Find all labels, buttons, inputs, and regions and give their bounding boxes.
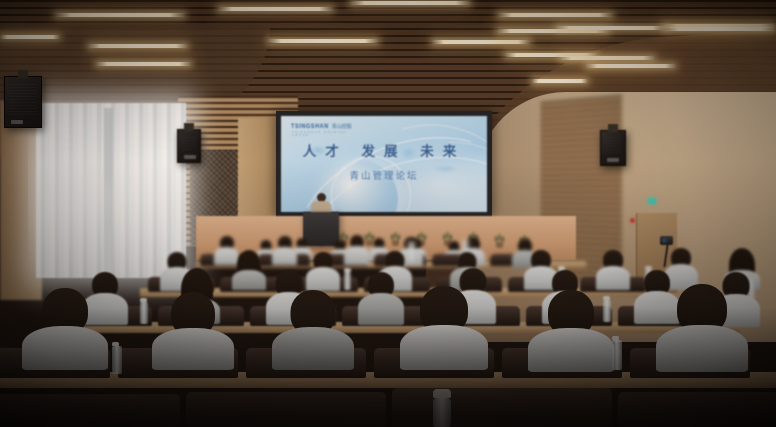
seat-back-foreground [0,394,180,427]
ceiling-light-strip [432,40,530,44]
speaker-mount [184,123,194,131]
wall-speaker-left-mid [177,129,201,163]
audience-member [596,250,630,290]
bottle-cap [140,298,147,302]
audience-member-foreground [22,288,108,366]
logo-text-cn: 青山控股 [332,123,352,130]
ceiling-light-strip [560,56,655,60]
person-shoulders [656,325,748,372]
person-shoulders [344,246,370,265]
person-shoulders [232,270,266,290]
water-bottle [612,340,622,370]
ceiling-light-strip [55,13,185,17]
audience-member [358,272,404,324]
ceiling-light-strip [350,1,470,5]
bottle-cap [462,240,469,244]
audience-member-foreground [656,284,748,370]
tsingshan-logo: TSINGSHAN 青山控股 TSINGSHAN HOLDING GROUP [291,123,352,130]
person-shoulders [152,328,234,370]
audience-member-foreground [152,292,234,368]
person-shoulders [272,327,354,370]
audience-member-foreground [272,290,354,368]
audience-member [272,236,297,264]
curtain-gap [104,108,113,273]
person-shoulders [528,328,614,372]
speaker-badge [607,158,619,162]
wall-speaker-left-front [4,76,42,128]
bottle-cap [433,389,451,398]
slide-headline: 人才 发展 未来 [281,140,487,160]
ceiling-light-strip [0,35,60,39]
seat-back-foreground [618,392,776,427]
ceiling-light-strip [586,64,676,68]
plant-pot [496,242,503,248]
camera-lens-icon [662,238,667,243]
audience-member-foreground [400,286,488,368]
conference-hall-photo: TSINGSHAN 青山控股 TSINGSHAN HOLDING GROUP 人… [0,0,776,427]
bottle-cap [344,268,351,272]
speaker-grill [9,82,37,115]
speaker-mount [18,70,28,78]
audience-member [344,235,370,264]
audience-member-foreground [528,290,614,368]
exit-indicator-icon [648,198,656,204]
bottle-cap [112,342,119,346]
seat-back-foreground [186,392,386,427]
person-shoulders [358,293,404,325]
water-bottle-foreground [433,398,451,427]
speaker-grill [605,136,621,153]
potted-plant [494,233,505,248]
ceiling-light-strip [218,7,333,11]
ceiling-light-strip [498,13,613,17]
handheld-camera [660,236,673,245]
slide-subtitle: 青山管理论坛 [281,168,487,182]
person-shoulders [22,326,108,370]
ceiling-light-strip [556,26,666,30]
ceiling-light-strip [268,39,378,43]
water-bottle [140,302,148,324]
ceiling-light-strip [96,62,191,66]
ceiling-light-strip [88,44,188,48]
fire-alarm-icon [630,218,635,223]
bottle-cap [612,336,619,340]
person-shoulders [400,325,488,370]
speaker-badge [11,120,23,124]
logo-subtext: TSINGSHAN HOLDING GROUP [292,131,352,137]
speaker-badge [184,155,196,159]
water-bottle [112,346,122,374]
ceiling-light-strip [532,79,588,83]
person-shoulders [272,247,297,265]
ceiling-light-strip [665,27,775,31]
audience-member [232,250,266,290]
person-shoulders [596,266,630,290]
seat-back-foreground [392,388,612,427]
wall-speaker-right [600,130,626,166]
speaker-mount [608,124,618,132]
speaker-grill [182,135,196,150]
water-bottle [344,272,351,290]
logo-text-en: TSINGSHAN [291,124,329,131]
bottle-cap [408,242,415,246]
